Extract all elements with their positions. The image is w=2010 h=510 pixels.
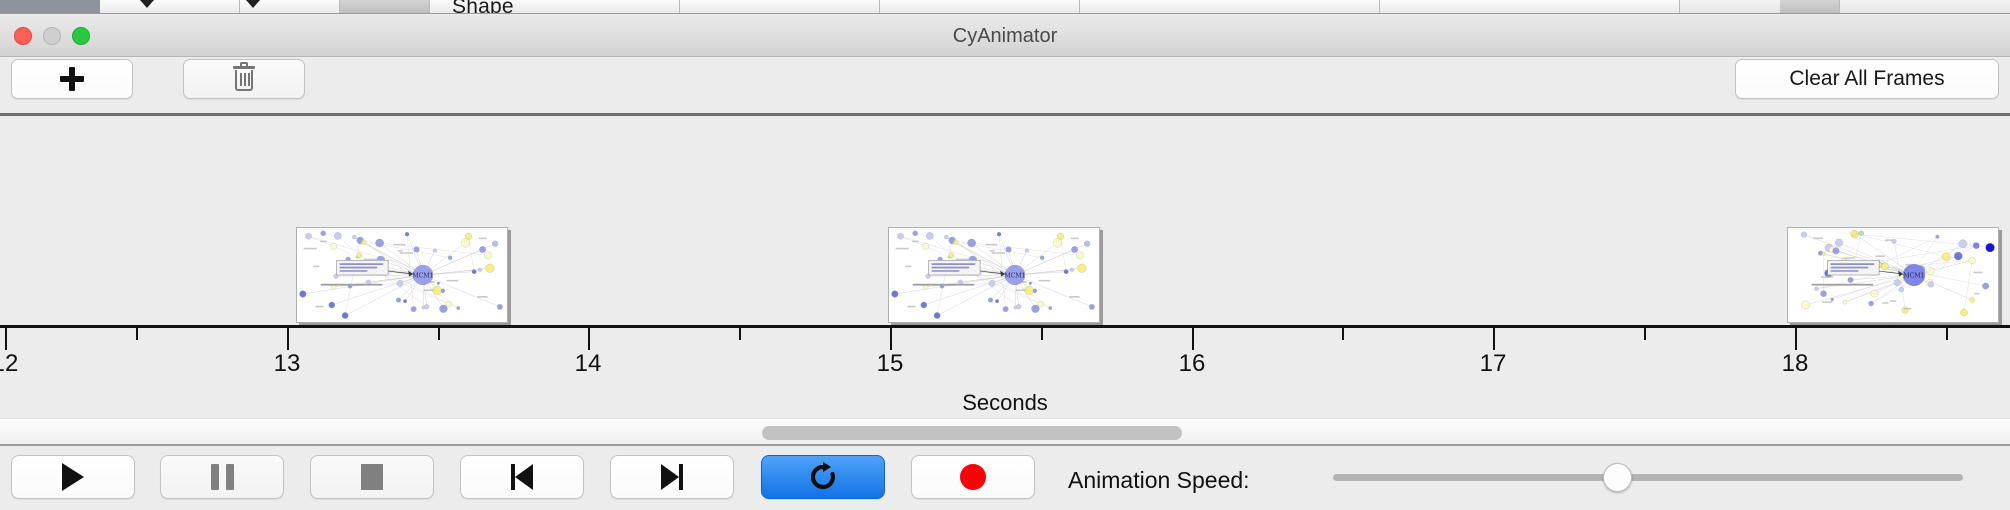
timeline-frame-thumbnail[interactable]: MCM1 (888, 227, 1100, 323)
add-frame-button[interactable] (11, 59, 133, 99)
axis-tick-label: 18 (1782, 350, 1809, 378)
stop-button (310, 455, 434, 499)
slider-thumb[interactable] (1603, 463, 1632, 492)
pause-icon (211, 464, 234, 490)
axis-tick-major (890, 328, 892, 350)
axis-tick-major (588, 328, 590, 350)
background-cell (880, 0, 1080, 14)
previous-frame-button[interactable] (460, 455, 584, 499)
axis-tick-minor (1342, 328, 1344, 340)
axis-title: Seconds (0, 390, 2010, 416)
transport-bar: Animation Speed: (0, 446, 2010, 510)
axis-tick-major (1192, 328, 1194, 350)
cyanimator-window: Shape CyAnimator Clear All Frames (0, 0, 2010, 510)
window-title: CyAnimator (0, 25, 2010, 48)
axis-tick-label: 13 (274, 350, 301, 378)
axis-line (0, 325, 2010, 328)
axis-tick-major (287, 328, 289, 350)
scrollbar-thumb[interactable] (762, 426, 1182, 440)
background-cell (1780, 0, 1840, 14)
loop-button[interactable] (761, 455, 885, 499)
axis-tick-major (1795, 328, 1797, 350)
svg-text:MCM1: MCM1 (1004, 273, 1025, 280)
axis-tick-minor (1644, 328, 1646, 340)
axis-tick-major (5, 328, 7, 350)
axis-tick-label: 16 (1179, 350, 1206, 378)
timeline-frame-thumbnail[interactable]: MCM1 (1787, 227, 1999, 323)
axis-tick-minor (136, 328, 138, 340)
record-icon (960, 464, 986, 490)
toolbar: Clear All Frames (0, 57, 2010, 113)
background-window-label: Shape (452, 0, 514, 14)
delete-frame-button[interactable] (183, 59, 305, 99)
background-cell (100, 0, 240, 14)
clear-all-frames-button[interactable]: Clear All Frames (1735, 59, 1999, 99)
background-window-strip: Shape (0, 0, 2010, 14)
axis-tick-label: 15 (877, 350, 904, 378)
axis-tick-label: 17 (1480, 350, 1507, 378)
trash-icon (233, 66, 255, 92)
axis-tick-minor (739, 328, 741, 340)
svg-text:MCM1: MCM1 (1903, 273, 1924, 280)
horizontal-scrollbar[interactable] (0, 418, 2010, 446)
skip-forward-icon (661, 464, 683, 490)
axis-tick-label: 14 (575, 350, 602, 378)
background-cell (1080, 0, 1380, 14)
background-cell (1380, 0, 1680, 14)
animation-speed-label: Animation Speed: (1068, 467, 1250, 494)
next-frame-button[interactable] (610, 455, 734, 499)
play-button[interactable] (11, 455, 135, 499)
background-cell (680, 0, 880, 14)
background-cell (340, 0, 430, 14)
animation-speed-slider[interactable] (1333, 474, 1963, 481)
axis-tick-minor (1041, 328, 1043, 340)
loop-icon (806, 461, 840, 493)
skip-back-icon (511, 464, 533, 490)
plus-icon (60, 67, 84, 91)
stop-icon (361, 464, 383, 490)
background-window-sidebar (0, 0, 100, 14)
record-button[interactable] (911, 455, 1035, 499)
title-bar: CyAnimator (0, 14, 2010, 57)
timeline-frame-thumbnail[interactable]: MCM1 (296, 227, 508, 323)
caret-down-icon (140, 0, 154, 8)
caret-down-icon (246, 0, 260, 8)
clear-all-frames-label: Clear All Frames (1789, 67, 1944, 91)
timeline-frames-area[interactable]: MCM1 MCM1 MCM1 (0, 116, 2010, 325)
pause-button (160, 455, 284, 499)
svg-text:MCM1: MCM1 (412, 273, 433, 280)
axis-tick-label: 12 (0, 350, 18, 378)
axis-tick-minor (1946, 328, 1948, 340)
axis-tick-major (1493, 328, 1495, 350)
play-icon (62, 463, 84, 491)
axis-tick-minor (438, 328, 440, 340)
